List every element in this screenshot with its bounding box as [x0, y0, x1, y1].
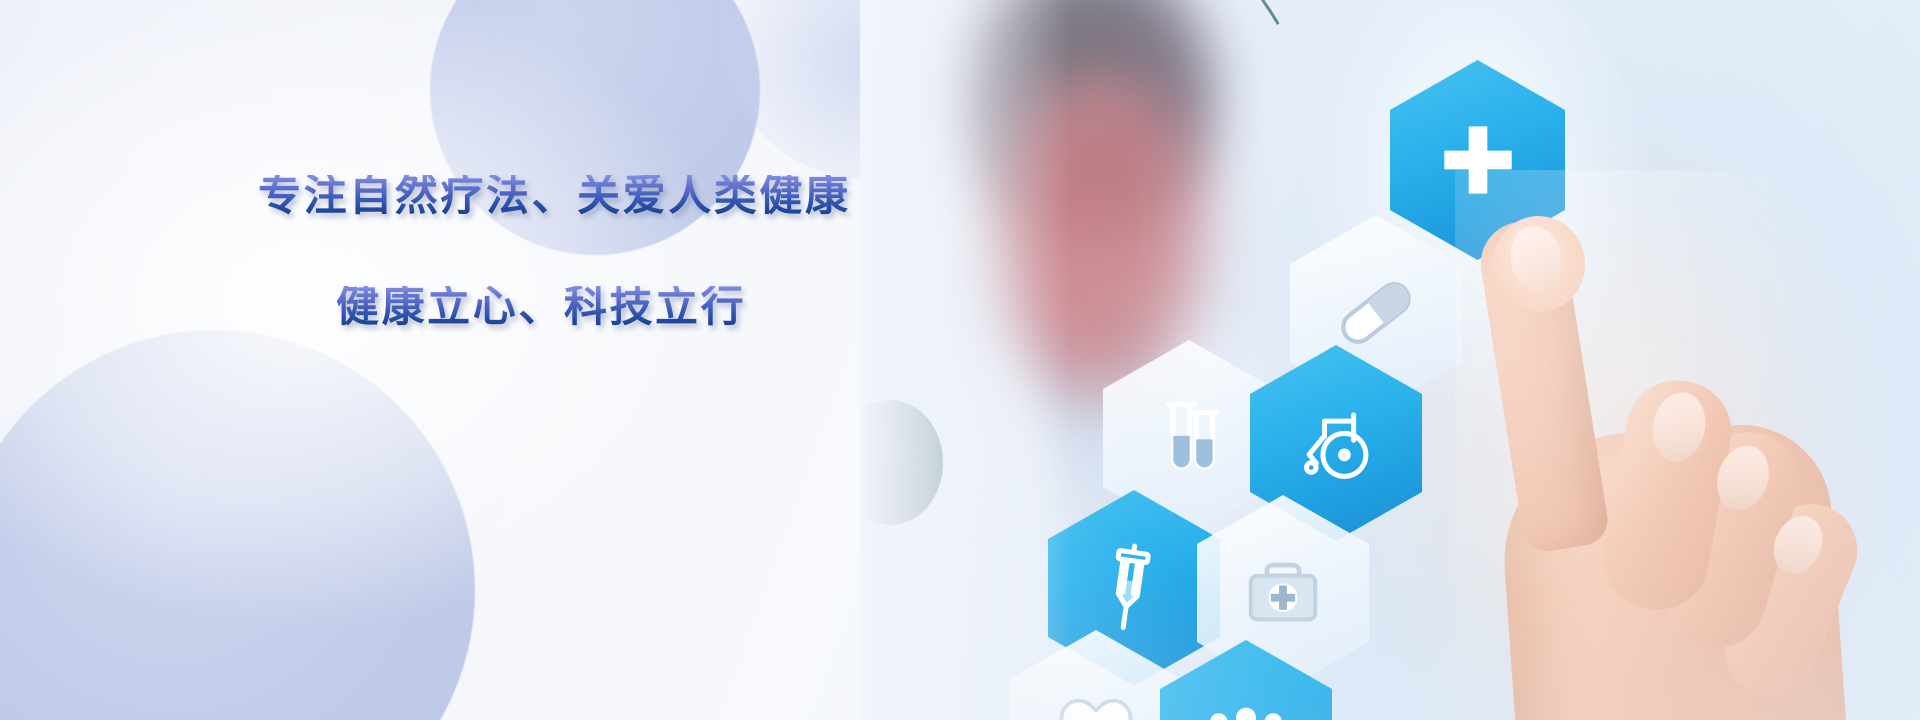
pointing-hand — [1415, 130, 1920, 720]
people-group-icon — [1198, 690, 1294, 720]
headline-line-1: 专注自然疗法、关爱人类健康 — [258, 175, 878, 218]
syringe-icon — [1086, 540, 1182, 636]
headline-block: 专注自然疗法、关爱人类健康 健康立心、科技立行 — [258, 175, 878, 329]
test-tubes-icon — [1146, 395, 1232, 481]
headline-line-2: 健康立心、科技立行 — [336, 286, 878, 329]
wheelchair-icon — [1290, 397, 1382, 489]
hero-photo — [860, 0, 1920, 720]
hero-banner: 专注自然疗法、关爱人类健康 健康立心、科技立行 — [0, 0, 1920, 720]
pill-capsule-icon — [1330, 267, 1422, 359]
decor-circle-bottom — [0, 330, 475, 720]
first-aid-kit-icon — [1240, 550, 1326, 636]
heart-icon — [1052, 684, 1140, 720]
